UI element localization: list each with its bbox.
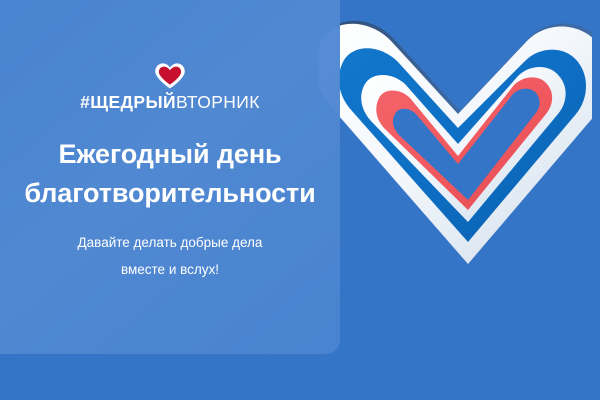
panel-content: #ЩЕДРЫЙВТОРНИК Ежегодный день благотвори… xyxy=(0,0,340,354)
charity-day-banner: #ЩЕДРЫЙВТОРНИК Ежегодный день благотвори… xyxy=(0,0,600,400)
nested-heart-artwork xyxy=(318,0,600,346)
nested-heart-icon xyxy=(318,0,600,346)
heart-outline-icon xyxy=(153,62,187,90)
hashtag-bold-part: #ЩЕДРЫЙ xyxy=(80,92,176,112)
brand-hashtag: #ЩЕДРЫЙВТОРНИК xyxy=(80,92,260,113)
hashtag-light-part: ВТОРНИК xyxy=(176,92,260,112)
subtitle-line-1: Давайте делать добрые дела xyxy=(20,229,320,256)
subtitle-line-2: вместе и вслух! xyxy=(20,256,320,283)
headline-line-2: благотворительности xyxy=(10,174,330,213)
page-title: Ежегодный день благотворительности xyxy=(10,135,330,213)
brand-logo: #ЩЕДРЫЙВТОРНИК xyxy=(80,62,260,113)
headline-line-1: Ежегодный день xyxy=(10,135,330,174)
subtitle: Давайте делать добрые дела вместе и вслу… xyxy=(20,229,320,283)
